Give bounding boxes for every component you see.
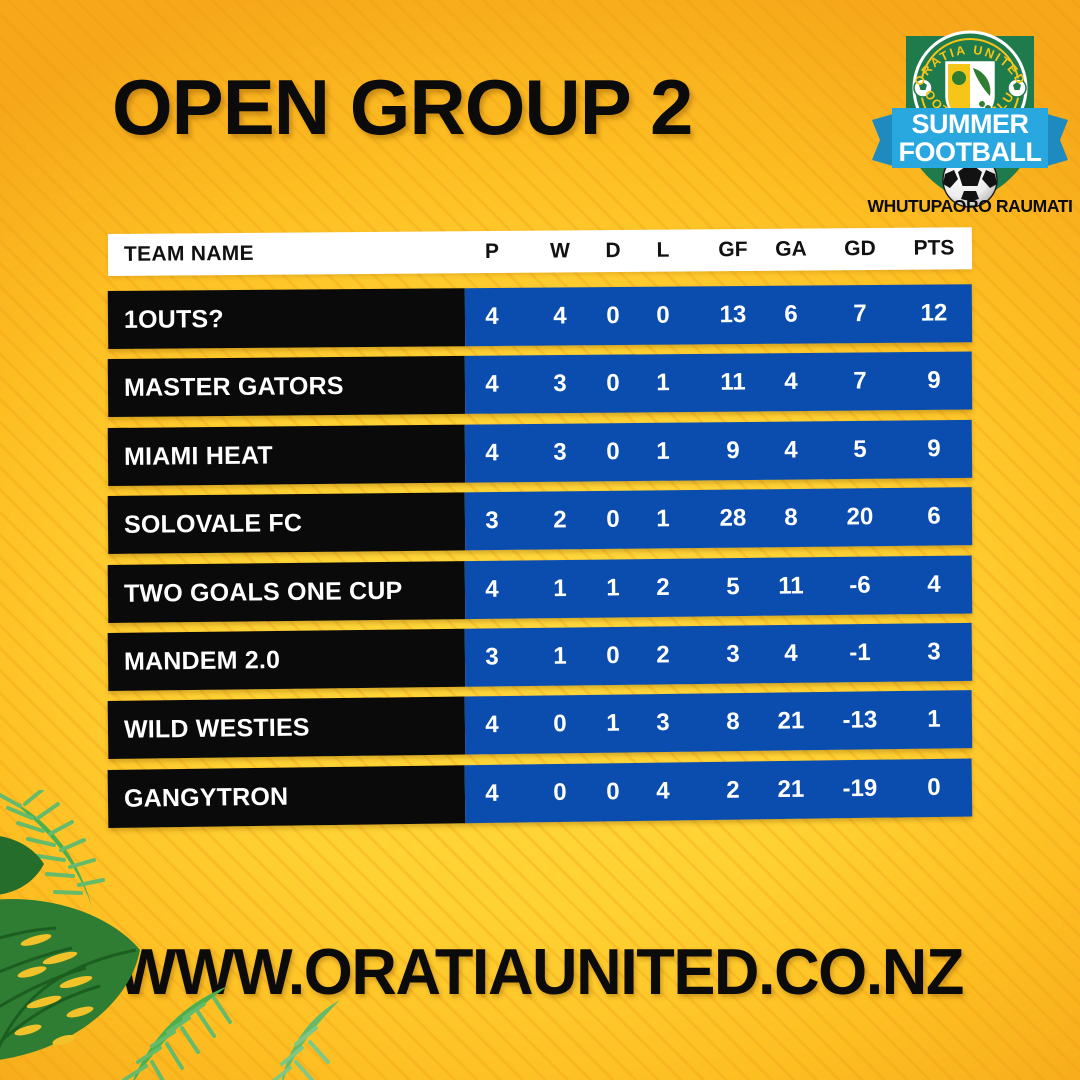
cell-p: 4 — [464, 356, 520, 414]
cell-gd: -6 — [832, 556, 889, 615]
column-header-d: D — [586, 230, 640, 272]
team-name-label: 1OUTS? — [124, 290, 224, 349]
column-header-w: W — [533, 230, 587, 272]
cell-gd: 7 — [832, 353, 888, 411]
cell-w: 1 — [532, 559, 589, 618]
cell-d: 0 — [585, 287, 641, 345]
column-header-team-name: TEAM NAME — [124, 233, 254, 276]
monstera-leaf-top — [0, 835, 44, 895]
cell-l: 1 — [635, 422, 692, 481]
cell-l: 2 — [635, 626, 692, 685]
cell-ga: 21 — [763, 760, 820, 819]
cell-l: 1 — [635, 490, 692, 549]
cell-p: 4 — [464, 424, 521, 483]
cell-ga: 11 — [763, 557, 820, 616]
cell-d: 0 — [585, 423, 642, 482]
cell-ga: 8 — [763, 489, 820, 548]
team-name-label: WILD WESTIES — [124, 699, 310, 759]
cell-ga: 21 — [763, 692, 820, 751]
cell-pts: 12 — [906, 284, 962, 342]
cell-w: 4 — [532, 287, 588, 345]
cell-d: 0 — [585, 355, 641, 413]
table-header-row: TEAM NAME P W D L GF GA GD PTS — [108, 227, 972, 276]
column-header-pts: PTS — [907, 227, 961, 269]
column-header-ga: GA — [764, 228, 818, 270]
cell-l: 3 — [635, 694, 692, 753]
cell-gf: 3 — [705, 625, 762, 684]
table-row[interactable]: 1OUTS?4400136712 — [108, 284, 972, 349]
cell-gf: 2 — [705, 761, 762, 820]
cell-p: 4 — [464, 288, 520, 346]
cell-gd: -19 — [832, 759, 889, 818]
cell-p: 3 — [464, 492, 521, 551]
cell-d: 0 — [585, 491, 642, 550]
cell-ga: 6 — [763, 285, 819, 343]
team-name-label: MIAMI HEAT — [124, 426, 273, 485]
table-row[interactable]: MASTER GATORS430111479 — [108, 352, 972, 417]
cell-p: 4 — [464, 696, 521, 755]
cell-p: 3 — [464, 628, 521, 687]
cell-pts: 9 — [906, 352, 962, 410]
tropical-leaves-decoration — [0, 790, 340, 1080]
cell-gf: 28 — [705, 490, 762, 549]
team-name-label: MASTER GATORS — [124, 357, 344, 417]
cell-l: 1 — [635, 354, 691, 412]
cell-gd: -1 — [832, 624, 889, 683]
table-row[interactable]: MANDEM 2.0310234-13 — [108, 623, 973, 691]
cell-pts: 1 — [906, 691, 963, 750]
cell-gd: -13 — [832, 692, 889, 751]
cell-gd: 5 — [832, 420, 889, 479]
cell-gf: 9 — [705, 422, 762, 481]
table-row[interactable]: WILD WESTIES4013821-131 — [108, 691, 973, 760]
cell-gf: 5 — [705, 557, 762, 616]
table-row[interactable]: MIAMI HEAT43019459 — [108, 420, 973, 486]
standings-poster: OPEN GROUP 2 — [0, 0, 1080, 1080]
cell-w: 0 — [532, 695, 589, 754]
palm-frond-right-icon — [270, 1000, 340, 1080]
cell-w: 3 — [532, 355, 588, 413]
cell-gf: 13 — [705, 286, 761, 344]
team-name-label: MANDEM 2.0 — [124, 631, 281, 691]
cell-gd: 7 — [832, 285, 888, 343]
cell-w: 1 — [532, 627, 589, 686]
cell-gf: 11 — [705, 354, 761, 412]
cell-d: 1 — [585, 695, 642, 754]
cell-w: 0 — [532, 763, 589, 822]
cell-l: 2 — [635, 558, 692, 617]
cell-l: 0 — [635, 286, 691, 344]
column-header-gf: GF — [706, 229, 760, 271]
cell-p: 4 — [464, 764, 521, 823]
cell-gf: 8 — [705, 693, 762, 752]
cell-pts: 6 — [906, 487, 963, 546]
cell-d: 1 — [585, 559, 642, 618]
table-row[interactable]: SOLOVALE FC3201288206 — [108, 487, 973, 554]
cell-pts: 4 — [906, 555, 963, 614]
cell-ga: 4 — [763, 625, 820, 684]
team-name-label: SOLOVALE FC — [124, 494, 303, 554]
cell-gd: 20 — [832, 488, 889, 547]
column-header-p: P — [465, 231, 519, 273]
cell-d: 0 — [585, 763, 642, 822]
column-header-l: L — [636, 229, 690, 271]
cell-ga: 4 — [763, 421, 820, 480]
column-header-gd: GD — [833, 228, 887, 270]
cell-ga: 4 — [763, 353, 819, 411]
cell-l: 4 — [635, 762, 692, 821]
team-name-label: TWO GOALS ONE CUP — [124, 561, 403, 622]
cell-pts: 3 — [906, 623, 963, 682]
cell-w: 2 — [532, 491, 589, 550]
cell-pts: 9 — [906, 420, 963, 479]
table-row[interactable]: TWO GOALS ONE CUP4112511-64 — [108, 555, 973, 622]
palm-frond-lower-icon — [124, 986, 230, 1080]
cell-pts: 0 — [906, 758, 963, 817]
cell-d: 0 — [585, 627, 642, 686]
cell-p: 4 — [464, 560, 521, 619]
cell-w: 3 — [532, 423, 589, 482]
